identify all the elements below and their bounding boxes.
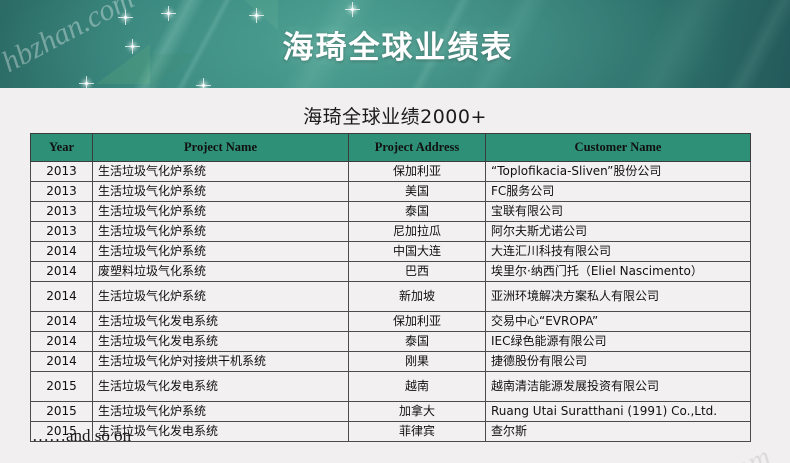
cell-customer-name: 捷德股份有限公司 <box>486 352 751 372</box>
cell-project-address: 泰国 <box>349 332 486 352</box>
cell-customer-name: 大连汇川科技有限公司 <box>486 242 751 262</box>
cell-customer-name: 宝联有限公司 <box>486 202 751 222</box>
cell-project-name: 生活垃圾气化炉系统 <box>93 242 349 262</box>
table-row: 2013生活垃圾气化炉系统尼加拉瓜阿尔夫斯尤诺公司 <box>31 222 751 242</box>
table-body: 2013生活垃圾气化炉系统保加利亚“Toplofikacia-Sliven”股份… <box>31 162 751 442</box>
cell-project-name: 生活垃圾气化发电系统 <box>93 312 349 332</box>
table-row: 2013生活垃圾气化炉系统保加利亚“Toplofikacia-Sliven”股份… <box>31 162 751 182</box>
cell-project-address: 尼加拉瓜 <box>349 222 486 242</box>
column-header-customer-name: Customer Name <box>486 134 751 162</box>
cell-project-name: 生活垃圾气化炉系统 <box>93 162 349 182</box>
cell-year: 2015 <box>31 372 93 402</box>
cell-project-address: 加拿大 <box>349 402 486 422</box>
page-banner: hbzhan.com 海琦全球业绩表 <box>0 0 790 88</box>
table-header-row: Year Project Name Project Address Custom… <box>31 134 751 162</box>
cell-customer-name: Ruang Utai Suratthani (1991) Co.,Ltd. <box>486 402 751 422</box>
table-title: 海琦全球业绩2000+ <box>0 102 790 129</box>
cell-project-address: 菲律宾 <box>349 422 486 442</box>
cell-year: 2014 <box>31 312 93 332</box>
footer-note: ……and so on <box>32 426 131 446</box>
cell-customer-name: 查尔斯 <box>486 422 751 442</box>
table-row: 2014生活垃圾气化炉系统中国大连大连汇川科技有限公司 <box>31 242 751 262</box>
footer-watermark: hbzhan.com <box>632 440 776 463</box>
cell-year: 2013 <box>31 202 93 222</box>
cell-project-address: 刚果 <box>349 352 486 372</box>
column-header-project-address: Project Address <box>349 134 486 162</box>
cell-project-name: 生活垃圾气化发电系统 <box>93 372 349 402</box>
table-row: 2014生活垃圾气化炉对接烘干机系统刚果捷德股份有限公司 <box>31 352 751 372</box>
cell-project-address: 泰国 <box>349 202 486 222</box>
column-header-project-name: Project Name <box>93 134 349 162</box>
cell-customer-name: 越南清洁能源发展投资有限公司 <box>486 372 751 402</box>
table-row: 2013生活垃圾气化炉系统泰国宝联有限公司 <box>31 202 751 222</box>
cell-project-address: 美国 <box>349 182 486 202</box>
cell-customer-name: FC服务公司 <box>486 182 751 202</box>
cell-project-name: 生活垃圾气化炉系统 <box>93 202 349 222</box>
table-row: 2015生活垃圾气化发电系统越南越南清洁能源发展投资有限公司 <box>31 372 751 402</box>
cell-project-name: 废塑料垃圾气化系统 <box>93 262 349 282</box>
cell-project-address: 越南 <box>349 372 486 402</box>
cell-customer-name: 阿尔夫斯尤诺公司 <box>486 222 751 242</box>
cell-project-name: 生活垃圾气化炉对接烘干机系统 <box>93 352 349 372</box>
table-row: 2014生活垃圾气化炉系统新加坡亚洲环境解决方案私人有限公司 <box>31 282 751 312</box>
table-row: 2014生活垃圾气化发电系统保加利亚交易中心“EVROPA” <box>31 312 751 332</box>
cell-year: 2014 <box>31 262 93 282</box>
table-row: 2014生活垃圾气化发电系统泰国IEC绿色能源有限公司 <box>31 332 751 352</box>
cell-customer-name: 交易中心“EVROPA” <box>486 312 751 332</box>
table-header: Year Project Name Project Address Custom… <box>31 134 751 162</box>
cell-project-name: 生活垃圾气化炉系统 <box>93 222 349 242</box>
banner-title: 海琦全球业绩表 <box>0 0 790 88</box>
cell-project-name: 生活垃圾气化炉系统 <box>93 282 349 312</box>
performance-table-container: Year Project Name Project Address Custom… <box>30 133 750 442</box>
table-row: 2015生活垃圾气化发电系统菲律宾查尔斯 <box>31 422 751 442</box>
table-row: 2014废塑料垃圾气化系统巴西埃里尔·纳西门托（Eliel Nascimento… <box>31 262 751 282</box>
cell-customer-name: “Toplofikacia-Sliven”股份公司 <box>486 162 751 182</box>
cell-customer-name: 亚洲环境解决方案私人有限公司 <box>486 282 751 312</box>
cell-year: 2013 <box>31 222 93 242</box>
cell-customer-name: 埃里尔·纳西门托（Eliel Nascimento） <box>486 262 751 282</box>
cell-year: 2014 <box>31 352 93 372</box>
cell-year: 2015 <box>31 402 93 422</box>
cell-year: 2014 <box>31 242 93 262</box>
performance-table: Year Project Name Project Address Custom… <box>30 133 751 442</box>
cell-project-name: 生活垃圾气化炉系统 <box>93 182 349 202</box>
cell-year: 2014 <box>31 332 93 352</box>
cell-project-address: 新加坡 <box>349 282 486 312</box>
cell-project-address: 保加利亚 <box>349 162 486 182</box>
column-header-year: Year <box>31 134 93 162</box>
cell-project-name: 生活垃圾气化发电系统 <box>93 332 349 352</box>
table-row: 2013生活垃圾气化炉系统美国FC服务公司 <box>31 182 751 202</box>
cell-year: 2014 <box>31 282 93 312</box>
table-row: 2015生活垃圾气化炉系统加拿大Ruang Utai Suratthani (1… <box>31 402 751 422</box>
cell-project-address: 巴西 <box>349 262 486 282</box>
cell-year: 2013 <box>31 162 93 182</box>
content-area: 海琦全球业绩2000+ Year Project Name Project Ad… <box>0 88 790 463</box>
cell-project-address: 中国大连 <box>349 242 486 262</box>
cell-customer-name: IEC绿色能源有限公司 <box>486 332 751 352</box>
cell-project-address: 保加利亚 <box>349 312 486 332</box>
cell-project-name: 生活垃圾气化炉系统 <box>93 402 349 422</box>
cell-year: 2013 <box>31 182 93 202</box>
